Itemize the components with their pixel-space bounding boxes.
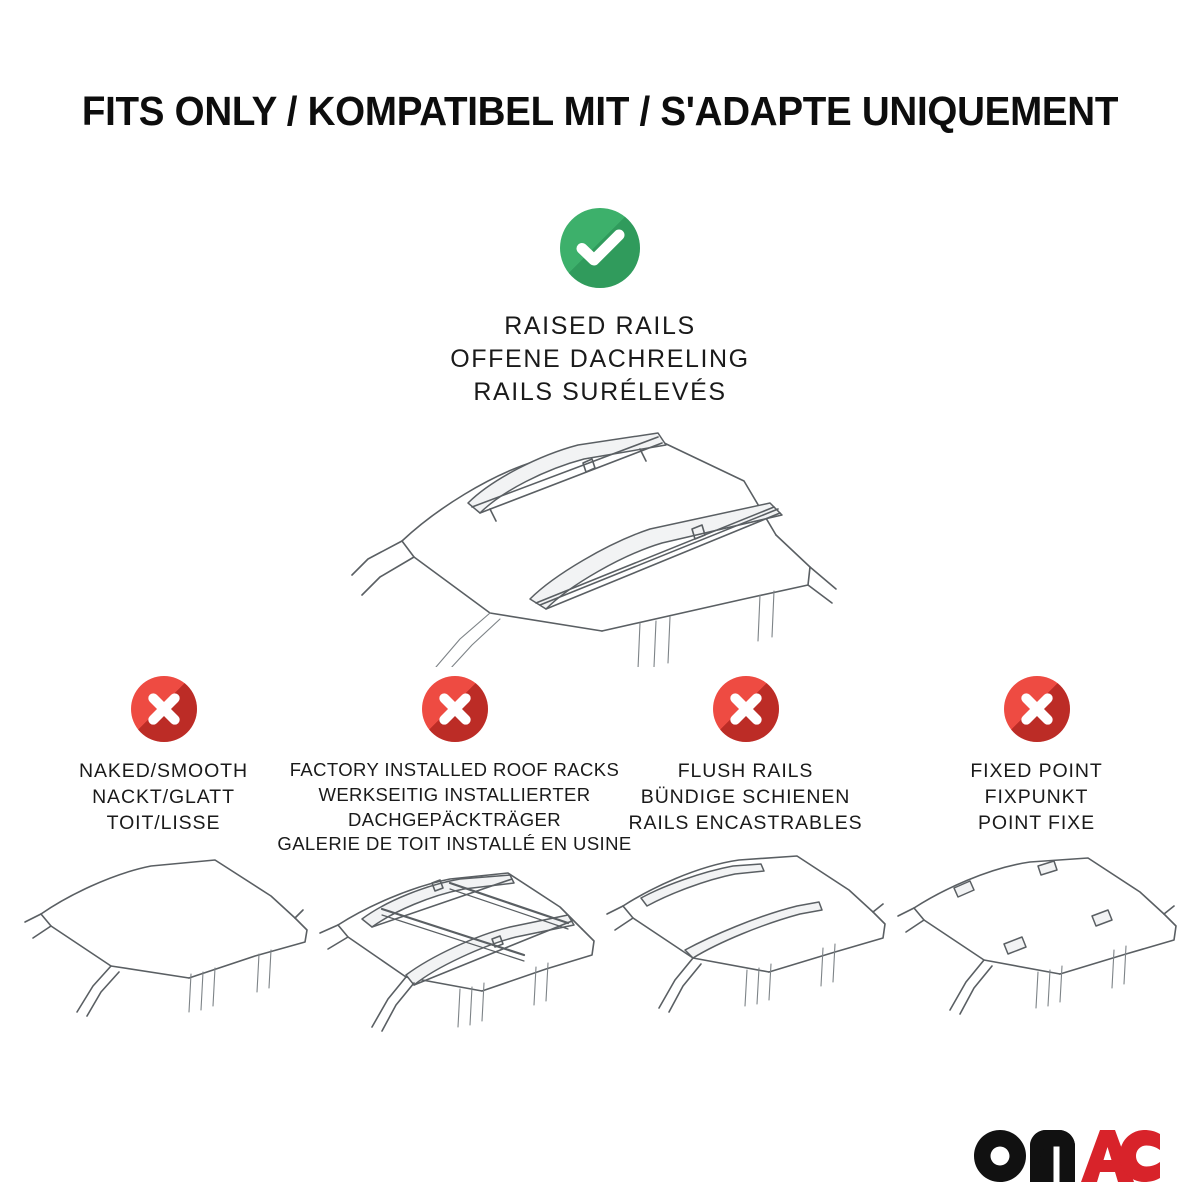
caption-line-fr: RAILS ENCASTRABLES: [628, 810, 862, 836]
compatible-caption: RAISED RAILS OFFENE DACHRELING RAILS SUR…: [450, 310, 749, 409]
caption-line-fr: GALERIE DE TOIT INSTALLÉ EN USINE: [277, 832, 631, 857]
incompatible-caption: NAKED/SMOOTH NACKT/GLATT TOIT/LISSE: [79, 758, 248, 836]
car-roof-flush-rails-illustration: [601, 846, 891, 1026]
incompatible-item-naked-smooth: NAKED/SMOOTH NACKT/GLATT TOIT/LISSE: [18, 676, 309, 1026]
infographic-page: FITS ONLY / KOMPATIBEL MIT / S'ADAPTE UN…: [0, 0, 1200, 1200]
cross-mark-glyph: [131, 676, 197, 742]
caption-line-fr: RAILS SURÉLEVÉS: [450, 376, 749, 409]
incompatible-caption: FIXED POINT FIXPUNKT POINT FIXE: [970, 758, 1102, 836]
incompatible-item-flush-rails: FLUSH RAILS BÜNDIGE SCHIENEN RAILS ENCAS…: [600, 676, 891, 1026]
check-circle-icon: [560, 208, 640, 288]
car-roof-naked-illustration: [19, 846, 309, 1026]
cross-mark-glyph: [422, 676, 488, 742]
car-roof-fixed-point-illustration: [892, 846, 1182, 1026]
omac-logo-mark: [974, 1130, 1160, 1182]
caption-line-en: FIXED POINT: [970, 758, 1102, 784]
caption-line-de: OFFENE DACHRELING: [450, 343, 749, 376]
caption-line-de-1: WERKSEITIG INSTALLIERTER: [277, 783, 631, 808]
incompatible-caption: FACTORY INSTALLED ROOF RACKS WERKSEITIG …: [277, 758, 631, 857]
caption-line-fr: TOIT/LISSE: [79, 810, 248, 836]
cross-circle-icon: [713, 676, 779, 742]
incompatible-section: NAKED/SMOOTH NACKT/GLATT TOIT/LISSE: [0, 676, 1200, 1047]
cross-mark-glyph: [1004, 676, 1070, 742]
compatible-section: RAISED RAILS OFFENE DACHRELING RAILS SUR…: [0, 208, 1200, 667]
check-mark-glyph: [560, 208, 640, 288]
omac-logo: [974, 1126, 1160, 1186]
caption-line-en: RAISED RAILS: [450, 310, 749, 343]
caption-line-de: FIXPUNKT: [970, 784, 1102, 810]
caption-line-de: NACKT/GLATT: [79, 784, 248, 810]
incompatible-item-fixed-point: FIXED POINT FIXPUNKT POINT FIXE: [891, 676, 1182, 1026]
caption-line-de-2: DACHGEPÄCKTRÄGER: [277, 808, 631, 833]
car-roof-raised-rails-illustration: [340, 417, 860, 667]
caption-line-en: FACTORY INSTALLED ROOF RACKS: [277, 758, 631, 783]
incompatible-caption: FLUSH RAILS BÜNDIGE SCHIENEN RAILS ENCAS…: [628, 758, 862, 836]
incompatible-item-factory-racks: FACTORY INSTALLED ROOF RACKS WERKSEITIG …: [309, 676, 600, 1047]
car-roof-factory-racks-illustration: [310, 867, 600, 1047]
caption-line-en: FLUSH RAILS: [628, 758, 862, 784]
cross-circle-icon: [422, 676, 488, 742]
caption-line-fr: POINT FIXE: [970, 810, 1102, 836]
caption-line-en: NAKED/SMOOTH: [79, 758, 248, 784]
caption-line-de: BÜNDIGE SCHIENEN: [628, 784, 862, 810]
page-title: FITS ONLY / KOMPATIBEL MIT / S'ADAPTE UN…: [36, 88, 1164, 135]
cross-circle-icon: [1004, 676, 1070, 742]
cross-mark-glyph: [713, 676, 779, 742]
cross-circle-icon: [131, 676, 197, 742]
